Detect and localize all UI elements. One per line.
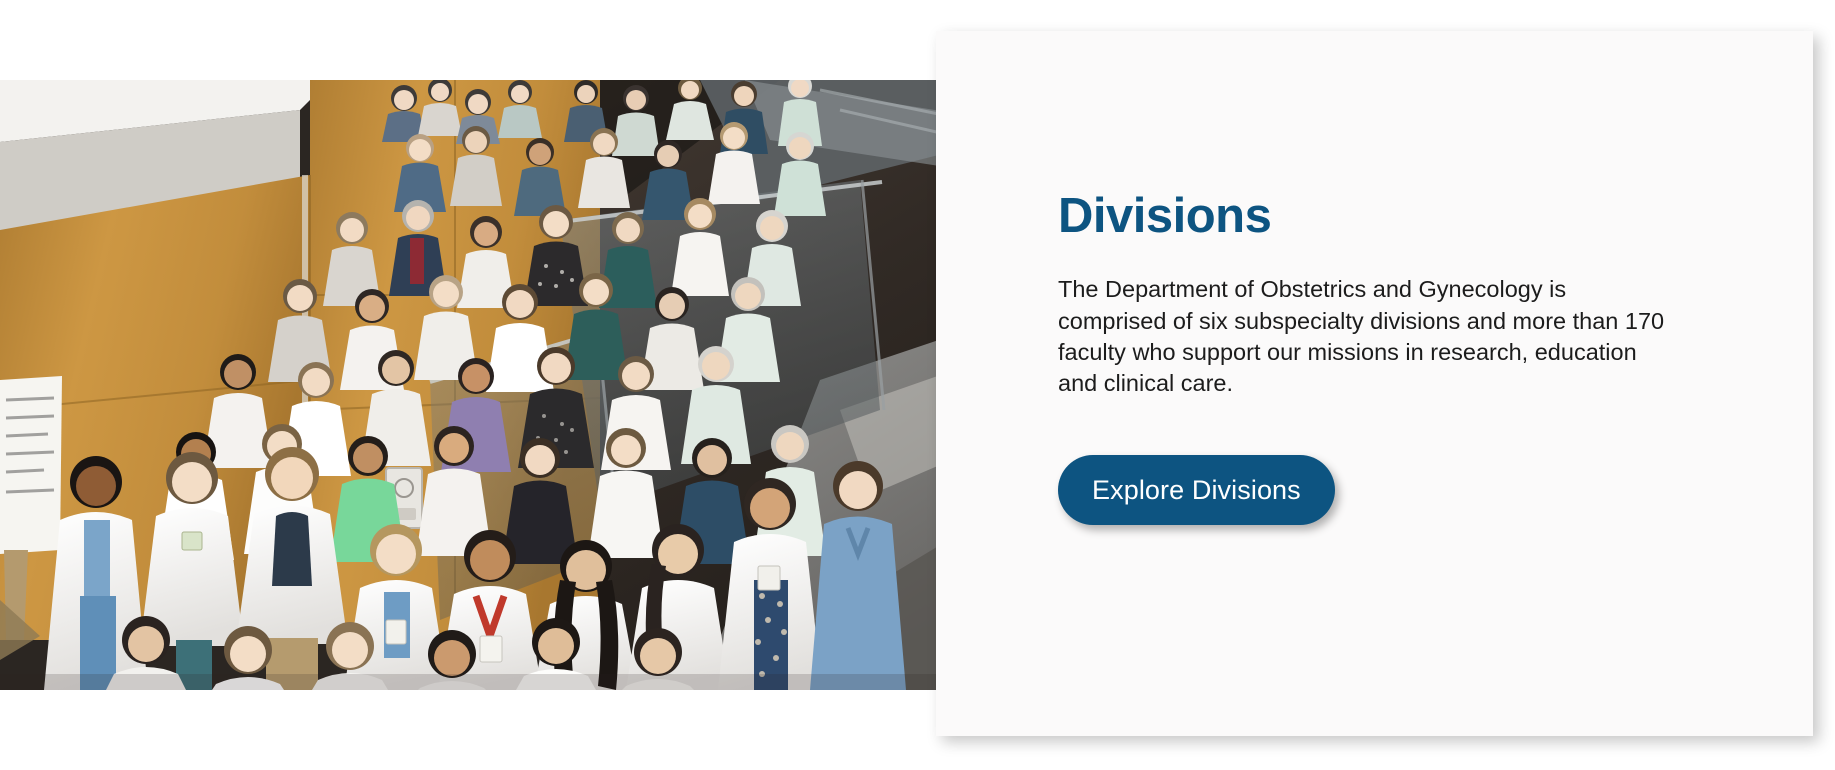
card-content: Divisions The Department of Obstetrics a… (1058, 191, 1778, 525)
page-title: Divisions (1058, 191, 1778, 242)
divisions-info-card: Divisions The Department of Obstetrics a… (936, 31, 1813, 736)
explore-divisions-button[interactable]: Explore Divisions (1058, 455, 1335, 525)
card-description: The Department of Obstetrics and Gynecol… (1058, 242, 1672, 399)
group-photo (0, 80, 998, 690)
